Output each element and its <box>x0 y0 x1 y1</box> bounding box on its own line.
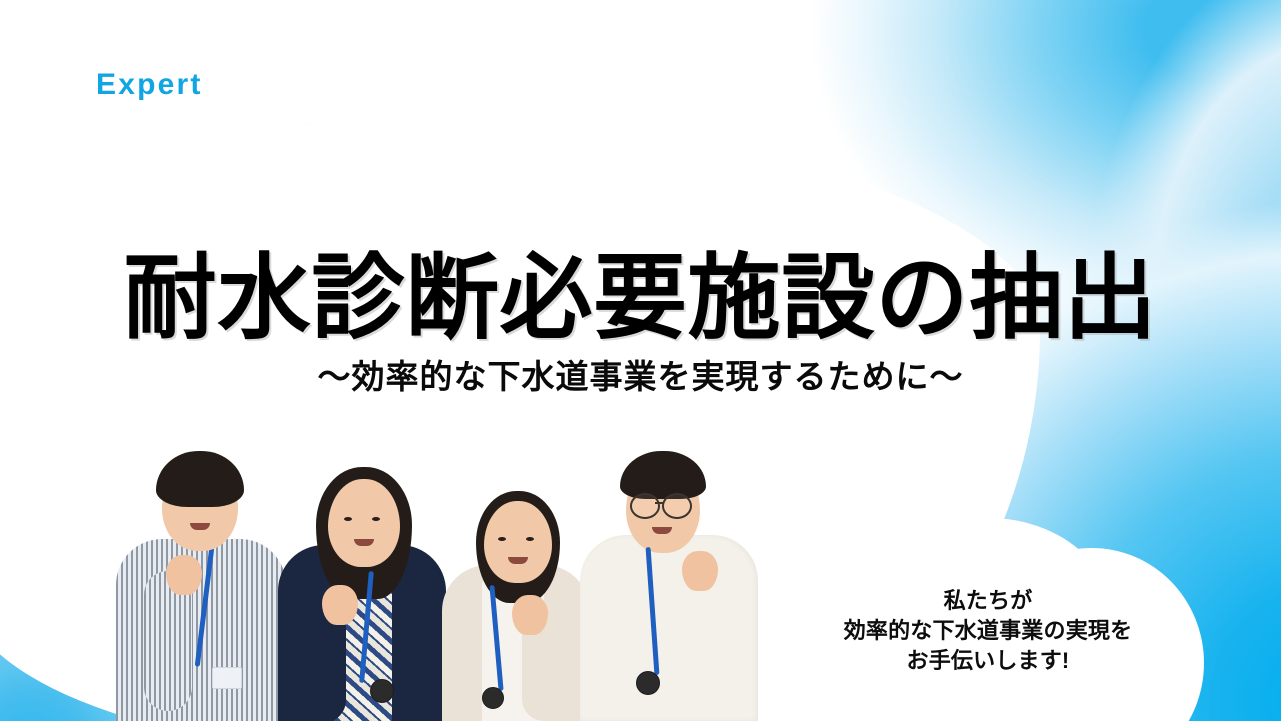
page-subtitle: ～効率的な下水道事業を実現するために～ <box>0 359 1281 395</box>
eyebrow-label: Expert <box>96 68 203 102</box>
glasses-icon-left-lens <box>630 493 660 519</box>
person-3-mouth <box>508 557 528 564</box>
person-3-eye-left <box>498 537 506 541</box>
staff-photo-group <box>110 446 770 721</box>
person-3-id-badge <box>482 687 504 709</box>
person-beige-cardigan-woman <box>442 485 592 721</box>
person-2-fist <box>322 585 358 625</box>
person-2-head <box>328 479 400 567</box>
hero-slide: Expert 耐水診断必要施設の抽出 ～効率的な下水道事業を実現するために～ <box>0 0 1281 721</box>
glasses-icon-bridge <box>655 502 664 504</box>
person-striped-shirt-man <box>110 451 290 721</box>
person-1-mouth <box>190 523 210 530</box>
person-2-id-badge <box>370 679 394 703</box>
person-3-head <box>484 501 552 583</box>
person-4-mouth <box>652 527 672 534</box>
person-2-eye-right <box>372 517 380 521</box>
speech-bubble-text: 私たちが 効率的な下水道事業の実現を お手伝いします! <box>772 586 1204 676</box>
glasses-icon-right-lens <box>662 493 692 519</box>
person-navy-jacket-woman <box>278 459 448 721</box>
person-1-hair <box>156 451 244 507</box>
speech-bubble-line-1: 私たちが <box>772 586 1204 616</box>
person-4-fist <box>682 551 718 591</box>
person-white-shirt-glasses-man <box>580 447 760 721</box>
speech-bubble-line-2: 効率的な下水道事業の実現を <box>772 616 1204 646</box>
person-4-hair <box>620 451 706 499</box>
speech-bubble-line-3: お手伝いします! <box>772 646 1204 676</box>
person-1-id-badge <box>212 667 242 689</box>
person-4-raised-arm <box>690 571 742 717</box>
person-3-eye-right <box>526 537 534 541</box>
page-title: 耐水診断必要施設の抽出 <box>0 252 1281 345</box>
person-1-fist <box>166 555 202 595</box>
person-2-mouth <box>354 539 374 546</box>
person-3-fist <box>512 595 548 635</box>
person-4-id-badge <box>636 671 660 695</box>
headline-block: 耐水診断必要施設の抽出 ～効率的な下水道事業を実現するために～ <box>0 252 1281 395</box>
person-2-eye-left <box>344 517 352 521</box>
